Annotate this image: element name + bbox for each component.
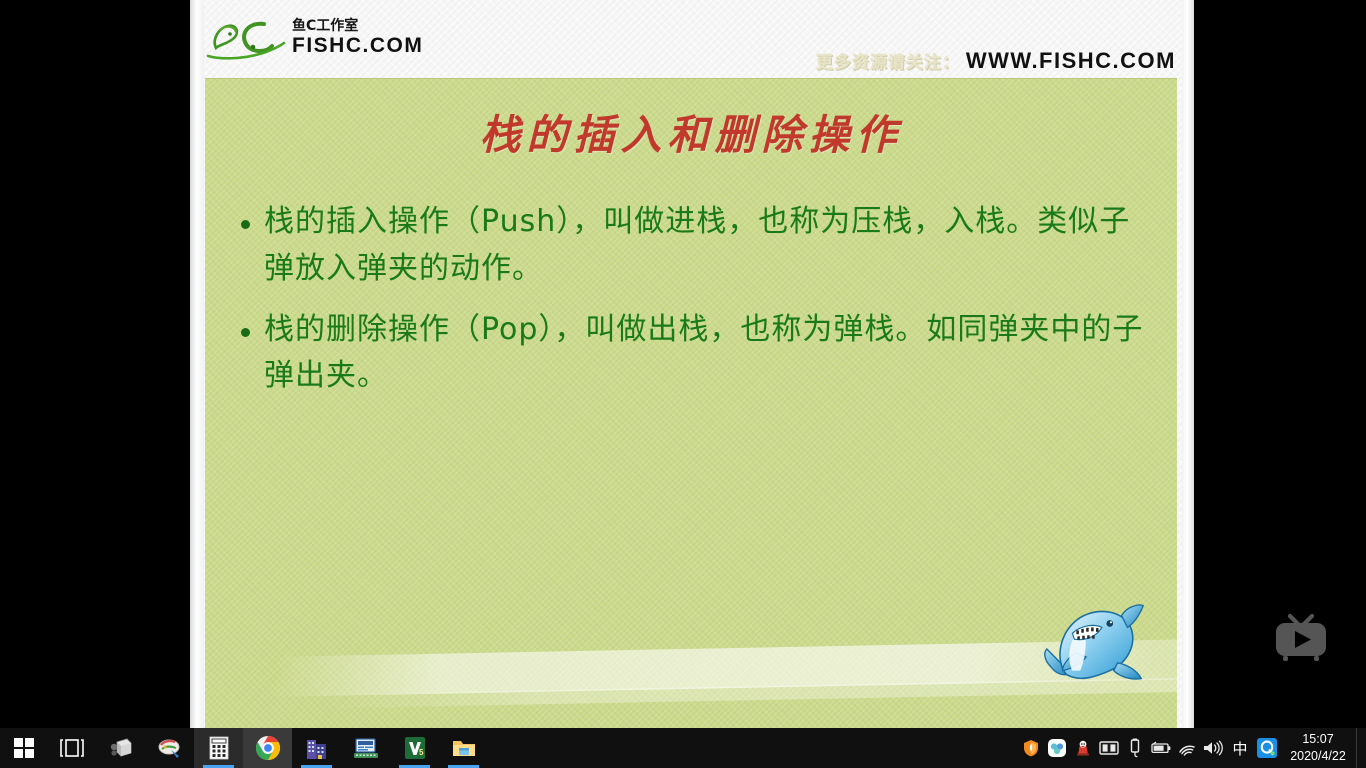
- task-view-button[interactable]: [48, 728, 96, 768]
- slide-header: 鱼C工作室 FISHC.COM 更多资源请关注： WWW.FISHC.COM: [190, 0, 1194, 78]
- bullet-dot-icon: [241, 328, 250, 337]
- brand-name-cn: 鱼C工作室: [292, 19, 423, 33]
- taskbar-item-paint-3d[interactable]: [145, 728, 194, 768]
- header-promo: 更多资源请关注： WWW.FISHC.COM: [816, 48, 1176, 74]
- start-button[interactable]: [0, 728, 48, 768]
- task-view-icon: [59, 738, 85, 758]
- usb-device-icon[interactable]: [1122, 728, 1148, 768]
- cloud-sync-icon[interactable]: [1044, 728, 1070, 768]
- slide-left-edge: [190, 0, 204, 728]
- slideshow-viewer[interactable]: 鱼C工作室 FISHC.COM 更多资源请关注： WWW.FISHC.COM 栈…: [190, 0, 1194, 728]
- brand-name-en: FISHC.COM: [292, 35, 423, 56]
- bullet-text: 栈的插入操作（Push），叫做进栈，也称为压栈，入栈。类似子弹放入弹夹的动作。: [264, 199, 1144, 293]
- taskbar-item-presentation-app[interactable]: [341, 728, 390, 768]
- taskbar-item-v5-app[interactable]: 5: [390, 728, 439, 768]
- shield-security-icon[interactable]: [1018, 728, 1044, 768]
- bilibili-tv-play-icon: [1268, 608, 1334, 670]
- taskbar-item-city-building[interactable]: [292, 728, 341, 768]
- windows-start-icon: [14, 738, 34, 758]
- calculator-icon: [208, 736, 230, 760]
- slide-title: 栈的插入和删除操作: [205, 101, 1177, 161]
- list-item: 栈的删除操作（Pop），叫做出栈，也称为弹栈。如同弹夹中的子弹出夹。: [227, 307, 1147, 401]
- brand-logo: 鱼C工作室 FISHC.COM: [206, 14, 423, 62]
- wifi-icon[interactable]: [1174, 728, 1200, 768]
- clock-time: 15:07: [1302, 731, 1333, 748]
- qq-messenger-icon[interactable]: [1254, 728, 1280, 768]
- ime-language-indicator[interactable]: 中: [1226, 738, 1254, 759]
- file-explorer-icon: [451, 737, 477, 759]
- screen: 鱼C工作室 FISHC.COM 更多资源请关注： WWW.FISHC.COM 栈…: [0, 0, 1366, 768]
- bullet-dot-icon: [241, 220, 250, 229]
- v5-app-icon: 5: [403, 736, 427, 760]
- show-desktop-button[interactable]: [1356, 728, 1364, 768]
- taskbar-item-calculator[interactable]: [194, 728, 243, 768]
- brand-wordmark: 鱼C工作室 FISHC.COM: [292, 19, 423, 58]
- presentation-app-icon: [352, 736, 380, 760]
- taskbar-item-chrome[interactable]: [243, 728, 292, 768]
- promo-url: WWW.FISHC.COM: [966, 48, 1176, 74]
- clock-date: 2020/4/22: [1290, 748, 1346, 765]
- city-building-icon: [304, 736, 330, 760]
- svg-text:5: 5: [419, 748, 424, 757]
- penguin-app-icon[interactable]: [1070, 728, 1096, 768]
- volume-icon[interactable]: [1200, 728, 1226, 768]
- bullet-list: 栈的插入操作（Push），叫做进栈，也称为压栈，入栈。类似子弹放入弹夹的动作。 …: [227, 199, 1147, 400]
- taskbar-empty-area[interactable]: [488, 728, 1018, 768]
- battery-icon[interactable]: [1148, 728, 1174, 768]
- display-switch-icon[interactable]: [1096, 728, 1122, 768]
- taskbar-clock[interactable]: 15:07 2020/4/22: [1280, 728, 1356, 768]
- 3d-viewer-icon: [108, 736, 134, 760]
- system-tray: 中 15:07 2020/4/22: [1018, 728, 1366, 768]
- slide-content-panel: 栈的插入和删除操作 栈的插入操作（Push），叫做进栈，也称为压栈，入栈。类似子…: [205, 78, 1177, 728]
- taskbar-item-3d-viewer[interactable]: [96, 728, 145, 768]
- shark-mascot-icon: [1037, 592, 1155, 710]
- taskbar-items: 5: [0, 728, 488, 768]
- promo-text-cn: 更多资源请关注：: [816, 48, 960, 73]
- slide-right-edge: [1182, 0, 1194, 728]
- bullet-text: 栈的删除操作（Pop），叫做出栈，也称为弹栈。如同弹夹中的子弹出夹。: [264, 307, 1144, 401]
- taskbar[interactable]: 5: [0, 728, 1366, 768]
- google-chrome-icon: [255, 735, 281, 761]
- fishc-brush-logo-icon: [206, 14, 286, 62]
- paint-3d-icon: [157, 736, 183, 760]
- taskbar-item-file-explorer[interactable]: [439, 728, 488, 768]
- list-item: 栈的插入操作（Push），叫做进栈，也称为压栈，入栈。类似子弹放入弹夹的动作。: [227, 199, 1147, 293]
